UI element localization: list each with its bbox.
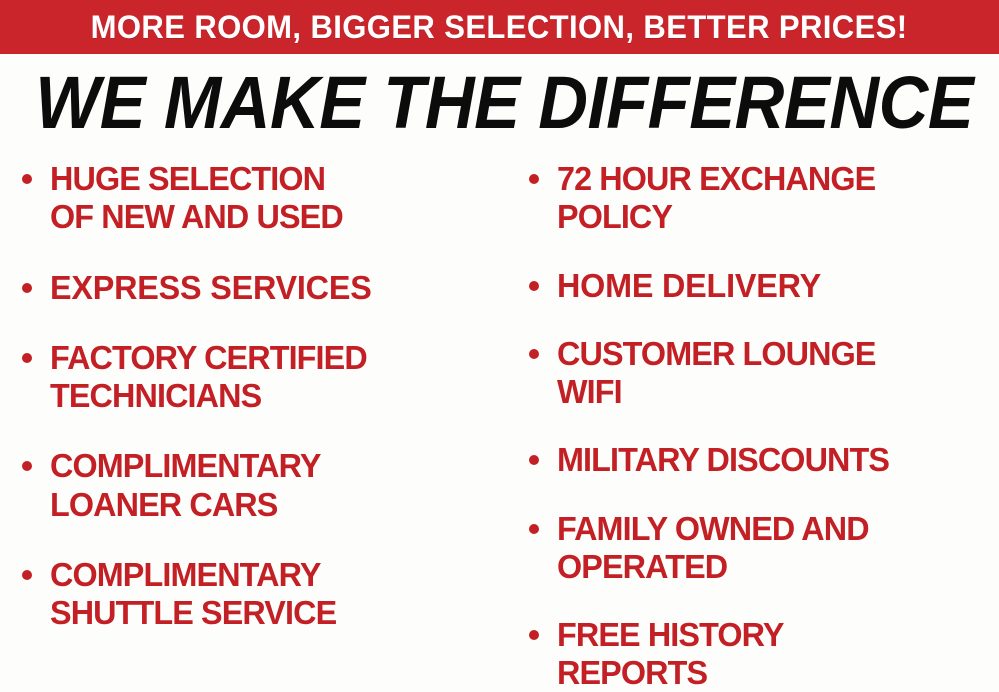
list-item: FAMILY OWNED AND OPERATED bbox=[525, 510, 999, 587]
list-item: MILITARY DISCOUNTS bbox=[525, 441, 999, 479]
list-item-label: MILITARY DISCOUNTS bbox=[557, 441, 990, 479]
list-item-label: FACTORY CERTIFIED TECHNICIANS bbox=[50, 339, 496, 416]
list-item: FREE HISTORY REPORTS bbox=[525, 616, 999, 692]
promotional-banner: MORE ROOM, BIGGER SELECTION, BETTER PRIC… bbox=[0, 0, 999, 692]
features-column-right: 72 HOUR EXCHANGE POLICY HOME DELIVERY CU… bbox=[505, 160, 999, 692]
list-item-label: FAMILY OWNED AND OPERATED bbox=[557, 510, 990, 587]
list-item-label: COMPLIMENTARY LOANER CARS bbox=[50, 447, 496, 524]
announcement-band: MORE ROOM, BIGGER SELECTION, BETTER PRIC… bbox=[0, 0, 999, 54]
bullet-dot-icon bbox=[22, 174, 32, 184]
list-item-label: HUGE SELECTION OF NEW AND USED bbox=[50, 160, 496, 237]
list-item-label: FREE HISTORY REPORTS bbox=[557, 616, 990, 692]
page-title-text: WE MAKE THE DIFFERENCE bbox=[35, 66, 973, 140]
list-item: 72 HOUR EXCHANGE POLICY bbox=[525, 160, 999, 237]
bullet-dot-icon bbox=[22, 570, 32, 580]
bullet-dot-icon bbox=[529, 349, 539, 359]
bullet-dot-icon bbox=[529, 455, 539, 465]
features-columns: HUGE SELECTION OF NEW AND USED EXPRESS S… bbox=[0, 160, 999, 692]
bullet-dot-icon bbox=[22, 461, 32, 471]
list-item: FACTORY CERTIFIED TECHNICIANS bbox=[18, 339, 505, 416]
announcement-band-text: MORE ROOM, BIGGER SELECTION, BETTER PRIC… bbox=[91, 11, 908, 43]
list-item-label: COMPLIMENTARY SHUTTLE SERVICE bbox=[50, 556, 496, 633]
bullet-dot-icon bbox=[22, 283, 32, 293]
bullet-dot-icon bbox=[22, 353, 32, 363]
bullet-dot-icon bbox=[529, 174, 539, 184]
list-item-label: CUSTOMER LOUNGE WIFI bbox=[557, 335, 990, 412]
list-item-label: EXPRESS SERVICES bbox=[50, 269, 496, 307]
list-item: HUGE SELECTION OF NEW AND USED bbox=[18, 160, 505, 237]
list-item: HOME DELIVERY bbox=[525, 267, 999, 305]
features-column-left: HUGE SELECTION OF NEW AND USED EXPRESS S… bbox=[0, 160, 505, 664]
list-item: COMPLIMENTARY LOANER CARS bbox=[18, 447, 505, 524]
list-item: CUSTOMER LOUNGE WIFI bbox=[525, 335, 999, 412]
bullet-dot-icon bbox=[529, 630, 539, 640]
bullet-dot-icon bbox=[529, 281, 539, 291]
page-title: WE MAKE THE DIFFERENCE bbox=[0, 66, 999, 140]
list-item: EXPRESS SERVICES bbox=[18, 269, 505, 307]
list-item-label: HOME DELIVERY bbox=[557, 267, 990, 305]
list-item-label: 72 HOUR EXCHANGE POLICY bbox=[557, 160, 990, 237]
bullet-dot-icon bbox=[529, 524, 539, 534]
list-item: COMPLIMENTARY SHUTTLE SERVICE bbox=[18, 556, 505, 633]
